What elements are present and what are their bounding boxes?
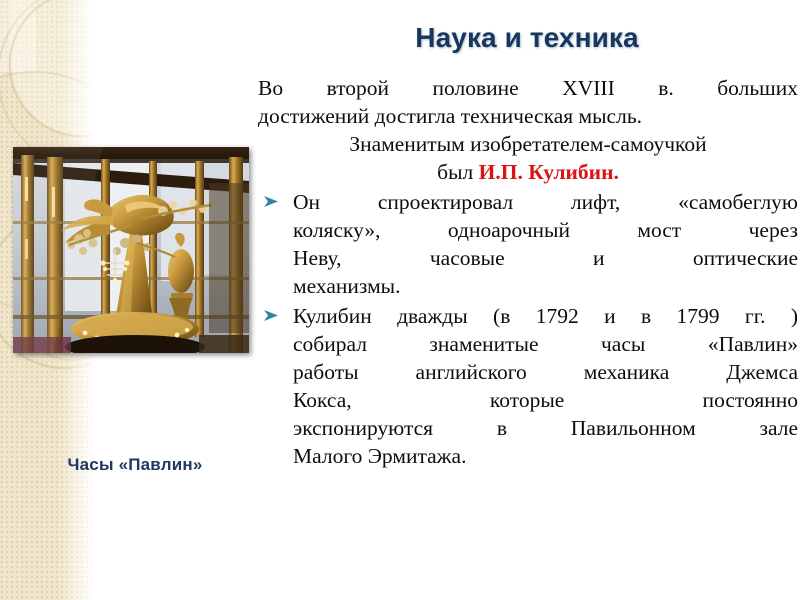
famous-line-1: Знаменитым изобретателем-самоучкой	[258, 130, 798, 158]
list-item: Кулибин дважды (в 1792 и в 1799 гг. ) со…	[258, 302, 798, 470]
famous-line-2: был И.П. Кулибин.	[258, 158, 798, 186]
bullet-list: Он спроектировал лифт, «самобеглую коляс…	[258, 188, 798, 470]
bullet-1-line-2: коляску», одноарочный мост через	[293, 216, 798, 244]
slide-body: Во второй половине XVIII в. больших дост…	[258, 74, 798, 470]
bullet-1-line-4: механизмы.	[293, 272, 798, 300]
arrow-bullet-icon	[263, 307, 280, 324]
bullet-2-line-4: Кокса, которые постоянно	[293, 386, 798, 414]
bullet-1-line-3: Неву, часовые и оптические	[293, 244, 798, 272]
image-caption: Часы «Павлин»	[10, 455, 260, 475]
bullet-1-text: Он спроектировал лифт, «самобеглую коляс…	[293, 188, 798, 300]
intro-paragraph: Во второй половине XVIII в. больших дост…	[258, 74, 798, 130]
presentation-slide: Часы «Павлин» Наука и техника Во второй …	[0, 0, 800, 600]
famous-line-2-prefix: был	[437, 160, 479, 184]
bullet-2-line-3: работы английского механика Джемса	[293, 358, 798, 386]
intro-line-2: достижений достигла техническая мысль.	[258, 104, 642, 128]
bullet-2-line-6: Малого Эрмитажа.	[293, 442, 798, 470]
arrow-bullet-icon	[263, 193, 280, 210]
bullet-2-line-2: собирал знаменитые часы «Павлин»	[293, 330, 798, 358]
inventor-name-highlight: И.П. Кулибин.	[479, 160, 619, 184]
page-title: Наука и техника	[258, 22, 796, 54]
bullet-2-line-1: Кулибин дважды (в 1792 и в 1799 гг. )	[293, 302, 798, 330]
bullet-2-text: Кулибин дважды (в 1792 и в 1799 гг. ) со…	[293, 302, 798, 470]
list-item: Он спроектировал лифт, «самобеглую коляс…	[258, 188, 798, 300]
peacock-clock-photo	[13, 147, 249, 353]
bullet-1-line-1: Он спроектировал лифт, «самобеглую	[293, 188, 798, 216]
intro-line-1: Во второй половине XVIII в. больших	[258, 74, 798, 102]
bullet-2-line-5: экспонируются в Павильонном зале	[293, 414, 798, 442]
famous-inventor-paragraph: Знаменитым изобретателем-самоучкой был И…	[258, 130, 798, 186]
